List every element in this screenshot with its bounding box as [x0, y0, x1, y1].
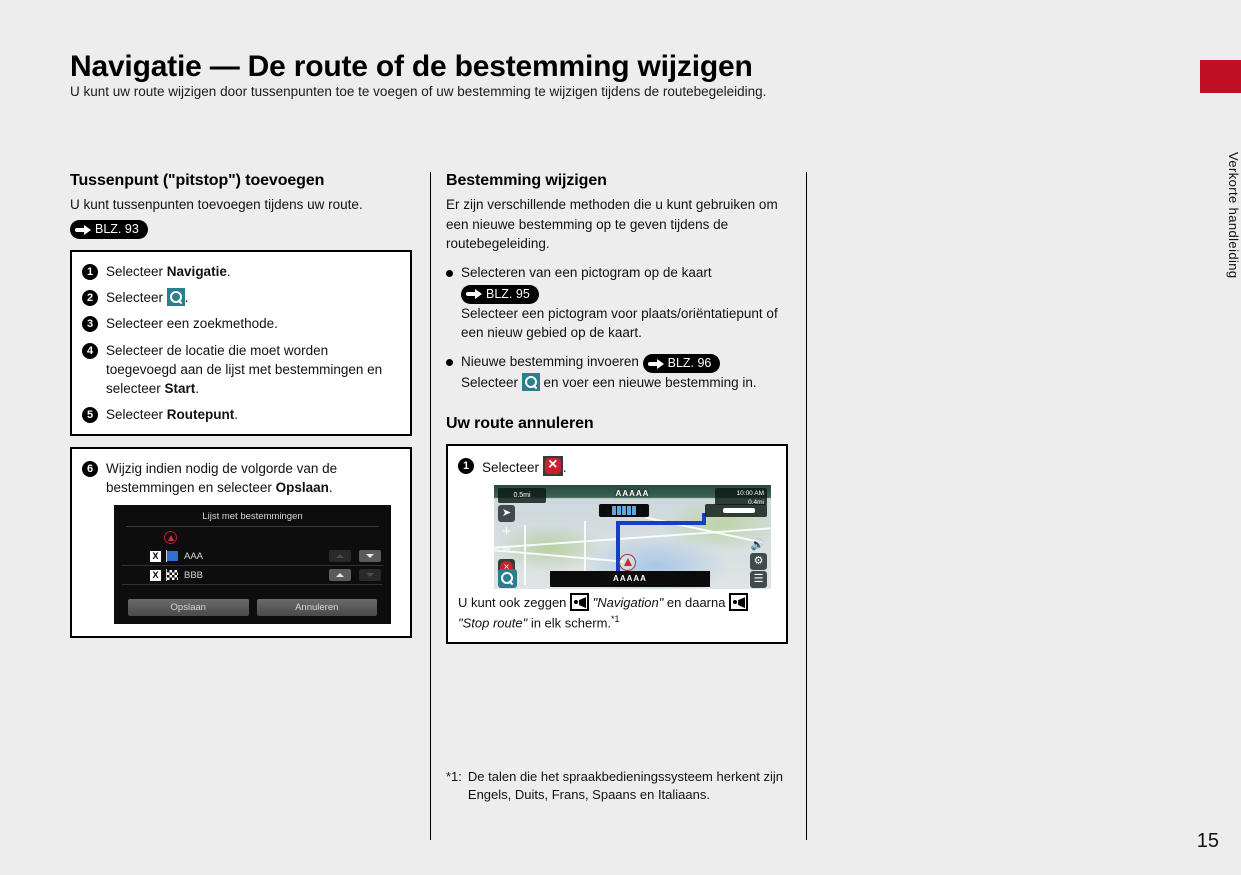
map-route-line	[616, 521, 706, 525]
arrow-right-icon	[648, 359, 665, 369]
voice-command-1: "Navigation"	[593, 595, 664, 610]
map-road	[524, 525, 526, 585]
reference-badge-label: BLZ. 95	[486, 286, 530, 303]
right-column: Bestemming wijzigen Er zijn verschillend…	[446, 172, 788, 644]
side-tab-label: Verkorte handleiding	[1200, 100, 1241, 330]
voice-command-icon	[570, 593, 589, 611]
step-number: 1	[82, 264, 98, 280]
bullet-body: Selecteren van een pictogram op de kaart…	[461, 263, 788, 343]
column-divider-right	[806, 172, 807, 840]
destination-name: BBB	[184, 570, 321, 581]
step-number: 3	[82, 316, 98, 332]
cancel-route-title: Uw route annuleren	[446, 415, 788, 433]
step-item: 2 Selecteer .	[82, 288, 398, 307]
search-icon[interactable]	[498, 569, 517, 588]
bullet-detail: Selecteer een pictogram voor plaats/orië…	[461, 306, 778, 341]
steps-box-1: 1 Selecteer Navigatie. 2 Selecteer . 3 S…	[70, 250, 412, 436]
zoom-in-button[interactable]: +	[498, 523, 515, 540]
step-bold-term: Start	[165, 381, 196, 396]
reference-badge-blz95[interactable]: BLZ. 95	[461, 285, 539, 304]
voice-command-icon	[729, 593, 748, 611]
step-text: Wijzig indien nodig de volgorde van de b…	[106, 459, 398, 497]
bullet-item: Nieuwe bestemming invoeren BLZ. 96 Selec…	[446, 352, 788, 393]
search-icon[interactable]	[522, 373, 540, 391]
map-distance-indicator: 0.5mi	[498, 488, 546, 503]
column-divider-left	[430, 172, 431, 840]
page-subtitle: U kunt uw route wijzigen door tussenpunt…	[70, 84, 766, 99]
destination-name: AAA	[184, 551, 321, 562]
step-text: Selecteer een zoekmethode.	[106, 314, 278, 333]
footnote-mark: *1:	[446, 768, 462, 805]
right-section-title: Bestemming wijzigen	[446, 172, 788, 190]
flag-checkered-icon	[167, 570, 178, 580]
destination-list-screenshot: Lijst met bestemmingen X AAA X BBB	[114, 505, 391, 624]
footnote-mark: *1	[611, 614, 620, 624]
footnote-text: De talen die het spraakbedieningssysteem…	[468, 768, 791, 805]
step-item: 4 Selecteer de locatie die moet worden t…	[82, 341, 398, 398]
voice-command-2: "Stop route"	[458, 615, 527, 630]
navigation-map-screenshot: 0.5mi AAAAA 10:00 AM 0.4mi ➤ + − 🔊 ⚙ ☰ A…	[494, 485, 771, 589]
page-root: Navigatie — De route of de bestemming wi…	[0, 0, 1241, 875]
cancel-route-box: 1 Selecteer . 0.5mi AAAAA 10:00 AM 0.4mi	[446, 444, 788, 644]
footnote: *1: De talen die het spraakbedieningssys…	[446, 768, 791, 805]
step-number: 2	[82, 290, 98, 306]
map-street-name: AAAAA	[616, 489, 650, 498]
map-bottom-street-label: AAAAA	[550, 571, 710, 587]
map-eta-time: 10:00 AM	[718, 489, 764, 498]
map-eta-panel: 10:00 AM 0.4mi	[715, 488, 767, 505]
delete-icon[interactable]: X	[150, 570, 161, 581]
step-text: Selecteer Navigatie.	[106, 262, 231, 281]
step-bold-term: Opslaan	[276, 480, 329, 495]
step-text: Selecteer de locatie die moet worden toe…	[106, 341, 398, 398]
side-tab-accent-block	[1200, 60, 1241, 93]
bullet-lead: Nieuwe bestemming invoeren	[461, 354, 639, 369]
destination-list-buttons: Opslaan Annuleren	[122, 599, 383, 616]
zoom-out-button[interactable]: −	[498, 541, 515, 558]
step-number: 6	[82, 461, 98, 477]
bullet-detail-prefix: Selecteer	[461, 375, 522, 390]
menu-icon[interactable]: ☰	[750, 571, 767, 588]
move-down-button[interactable]	[359, 569, 381, 581]
left-section-title: Tussenpunt ("pitstop") toevoegen	[70, 172, 412, 190]
step-text: Selecteer Routepunt.	[106, 405, 238, 424]
compass-icon[interactable]: ➤	[498, 505, 515, 522]
delete-icon[interactable]: X	[150, 551, 161, 562]
bullet-dot-icon	[446, 359, 453, 366]
left-section-intro: U kunt tussenpunten toevoegen tijdens uw…	[70, 195, 412, 215]
step-item: 3 Selecteer een zoekmethode.	[82, 314, 398, 333]
speaker-icon[interactable]: 🔊	[749, 537, 766, 554]
bullet-item: Selecteren van een pictogram op de kaart…	[446, 263, 788, 343]
search-icon[interactable]	[167, 288, 185, 306]
step-item: 1 Selecteer .	[458, 456, 774, 477]
voice-command-caption: U kunt ook zeggen "Navigation" en daarna…	[458, 593, 774, 632]
map-lane-guidance	[599, 504, 649, 517]
page-title: Navigatie — De route of de bestemming wi…	[70, 50, 753, 84]
save-button[interactable]: Opslaan	[128, 599, 249, 616]
reference-badge-blz96[interactable]: BLZ. 96	[643, 354, 721, 373]
bullet-lead: Selecteren van een pictogram op de kaart	[461, 265, 712, 280]
step-number: 1	[458, 458, 474, 474]
left-column: Tussenpunt ("pitstop") toevoegen U kunt …	[70, 172, 412, 638]
arrow-right-icon	[466, 289, 483, 299]
reference-badge-blz93[interactable]: BLZ. 93	[70, 220, 148, 239]
move-down-button[interactable]	[359, 550, 381, 562]
reference-badge-label: BLZ. 96	[668, 355, 712, 372]
bullet-detail-suffix: en voer een nieuwe bestemming in.	[540, 375, 757, 390]
step-bold-term: Routepunt	[167, 407, 234, 422]
arrow-right-icon	[75, 225, 92, 235]
move-up-button[interactable]	[329, 569, 351, 581]
step-item: 6 Wijzig indien nodig de volgorde van de…	[82, 459, 398, 497]
right-section-intro: Er zijn verschillende methoden die u kun…	[446, 195, 788, 254]
steps-box-2: 6 Wijzig indien nodig de volgorde van de…	[70, 447, 412, 638]
map-next-maneuver-bar	[705, 504, 767, 517]
step-bold-term: Navigatie	[167, 264, 227, 279]
destination-list-title: Lijst met bestemmingen	[122, 511, 383, 526]
flag-blue-icon	[167, 551, 178, 561]
cancel-button[interactable]: Annuleren	[257, 599, 378, 616]
cancel-route-icon[interactable]	[543, 456, 563, 476]
step-text: Selecteer .	[106, 288, 189, 307]
destination-row[interactable]: X AAA	[122, 547, 383, 566]
reference-badge-label: BLZ. 93	[95, 221, 139, 238]
step-item: 5 Selecteer Routepunt.	[82, 405, 398, 424]
left-reference-line: BLZ. 93	[70, 219, 412, 240]
step-number: 4	[82, 343, 98, 359]
step-item: 1 Selecteer Navigatie.	[82, 262, 398, 281]
page-number: 15	[1197, 830, 1219, 853]
move-up-button[interactable]	[329, 550, 351, 562]
map-road	[494, 527, 770, 548]
bullet-body: Nieuwe bestemming invoeren BLZ. 96 Selec…	[461, 352, 757, 393]
route-options-icon[interactable]: ⚙	[750, 553, 767, 570]
step-number: 5	[82, 407, 98, 423]
current-position-marker-icon	[164, 531, 177, 544]
step-text: Selecteer .	[482, 456, 567, 477]
divider	[126, 526, 379, 527]
destination-row[interactable]: X BBB	[122, 566, 383, 585]
bullet-dot-icon	[446, 270, 453, 277]
vehicle-position-icon	[619, 554, 636, 571]
